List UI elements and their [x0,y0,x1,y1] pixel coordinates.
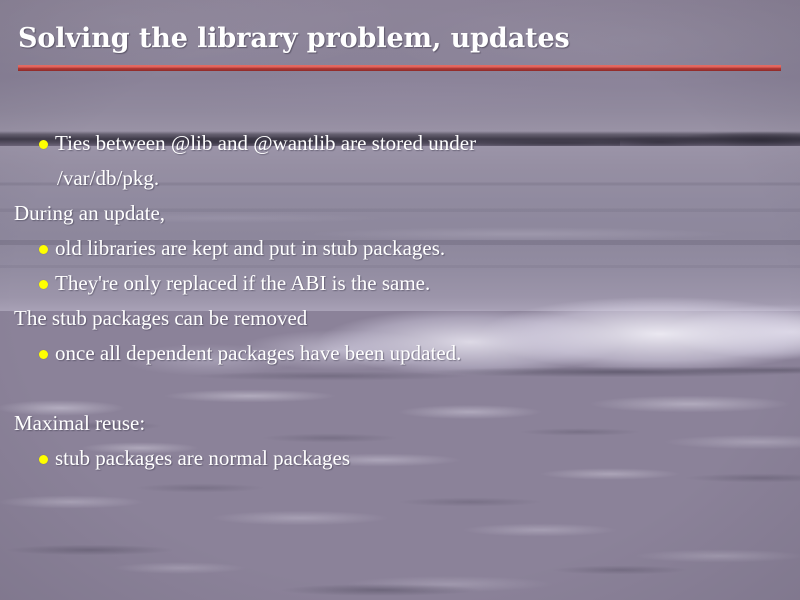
body-line: Maximal reuse: [0,406,800,441]
bullet-item: They're only replaced if the ABI is the … [0,266,800,301]
body-line: During an update, [0,196,800,231]
line-text: They're only replaced if the ABI is the … [55,271,430,295]
slide: Solving the library problem, updates Tie… [0,0,800,600]
bullet-item: old libraries are kept and put in stub p… [0,231,800,266]
bullet-dot-icon [39,455,48,464]
bullet-dot-icon [39,350,48,359]
line-text: stub packages are normal packages [55,446,350,470]
bullet-item: Ties between @lib and @wantlib are store… [0,126,800,161]
slide-title: Solving the library problem, updates [18,24,782,54]
body-line: The stub packages can be removed [0,301,800,336]
line-text: Maximal reuse: [14,411,145,435]
line-text: /var/db/pkg. [57,166,159,190]
body-spacer [0,371,800,406]
line-text: once all dependent packages have been up… [55,341,461,365]
line-text: old libraries are kept and put in stub p… [55,236,445,260]
bullet-item: stub packages are normal packages [0,441,800,476]
bullet-dot-icon [39,245,48,254]
body-line: /var/db/pkg. [0,161,800,196]
bullet-dot-icon [39,140,48,149]
line-text: Ties between @lib and @wantlib are store… [55,131,476,155]
line-text: The stub packages can be removed [14,306,307,330]
slide-content: Solving the library problem, updates Tie… [0,0,800,600]
slide-body: Ties between @lib and @wantlib are store… [0,126,800,476]
bullet-dot-icon [39,280,48,289]
bullet-item: once all dependent packages have been up… [0,336,800,371]
line-text: During an update, [14,201,165,225]
title-underline-rule [18,65,781,71]
